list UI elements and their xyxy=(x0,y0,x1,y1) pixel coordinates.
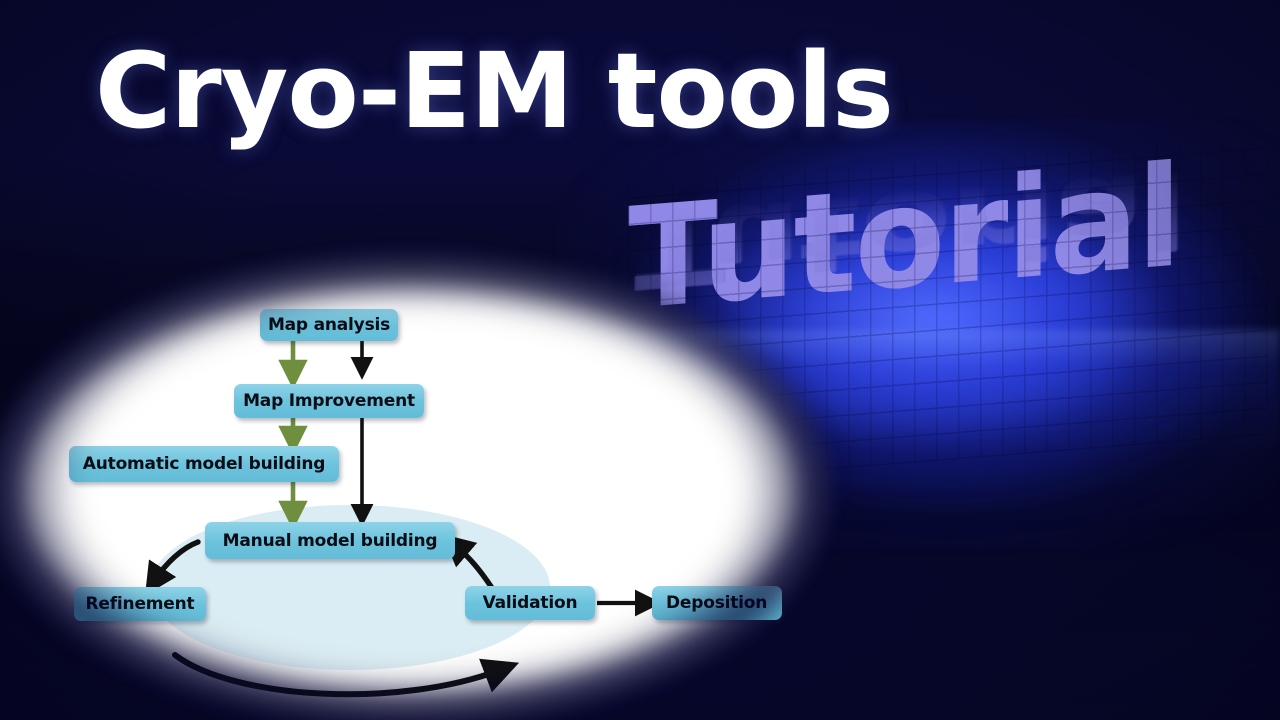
node-refinement[interactable]: Refinement xyxy=(74,587,206,621)
edge-refinement-to-validation xyxy=(175,655,500,694)
slide-canvas: Tutorial Tutorial Cryo-EM tools xyxy=(0,0,1280,720)
node-label: Automatic model building xyxy=(83,454,325,474)
node-map-analysis[interactable]: Map analysis xyxy=(260,309,398,341)
node-label: Manual model building xyxy=(223,531,438,551)
workflow-diagram: Map analysis Map Improvement Automatic m… xyxy=(0,270,830,720)
node-label: Refinement xyxy=(86,594,195,614)
node-label: Map Improvement xyxy=(243,391,415,411)
diagram-arrows xyxy=(0,270,830,720)
node-label: Map analysis xyxy=(268,315,390,335)
node-map-improvement[interactable]: Map Improvement xyxy=(234,384,424,418)
node-label: Validation xyxy=(483,593,578,613)
node-manual-model-building[interactable]: Manual model building xyxy=(205,522,455,559)
page-title: Cryo-EM tools xyxy=(95,36,893,146)
edge-validation-to-manual xyxy=(456,546,492,588)
edge-manual-to-refinement xyxy=(155,542,198,580)
node-deposition[interactable]: Deposition xyxy=(652,586,782,620)
node-label: Deposition xyxy=(666,593,767,613)
node-automatic-model-building[interactable]: Automatic model building xyxy=(69,446,339,482)
node-validation[interactable]: Validation xyxy=(465,586,595,620)
